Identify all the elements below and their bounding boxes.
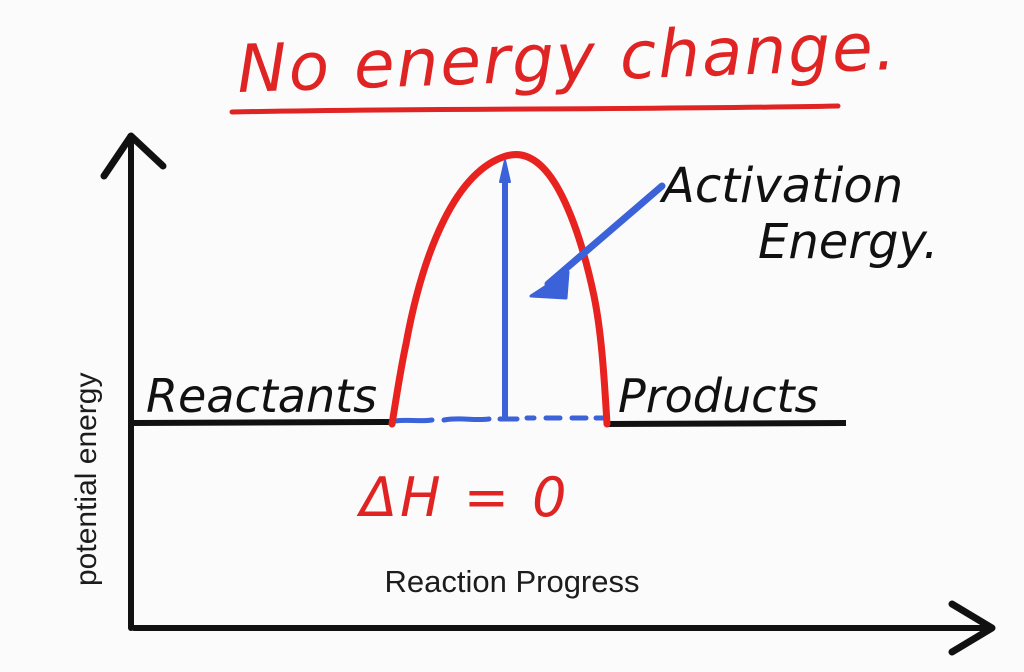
energy-profile-curve bbox=[392, 155, 607, 424]
title-underline bbox=[232, 106, 838, 112]
activation-energy-label-line1: Activation bbox=[659, 158, 903, 214]
baseline-dashed-line bbox=[395, 418, 604, 421]
products-level-line bbox=[606, 423, 846, 424]
pointer-arrow-head bbox=[531, 272, 568, 298]
activation-energy-pointer-arrow bbox=[531, 186, 662, 298]
reactants-label: Reactants bbox=[146, 369, 377, 423]
x-axis-label: Reaction Progress bbox=[384, 564, 639, 599]
energy-profile-diagram: No energy change. potential energy React… bbox=[0, 0, 1024, 672]
activation-energy-measure bbox=[500, 160, 510, 418]
diagram-canvas: No energy change. potential energy React… bbox=[0, 0, 1024, 672]
activation-energy-arrowhead-top bbox=[500, 160, 510, 182]
products-label: Products bbox=[618, 369, 818, 423]
title-group: No energy change. bbox=[232, 8, 899, 112]
enthalpy-change-label: ΔH = 0 bbox=[356, 466, 569, 529]
y-axis-label: potential energy bbox=[70, 373, 103, 587]
activation-energy-label-line2: Energy. bbox=[758, 214, 938, 270]
page-title: No energy change. bbox=[236, 8, 899, 108]
